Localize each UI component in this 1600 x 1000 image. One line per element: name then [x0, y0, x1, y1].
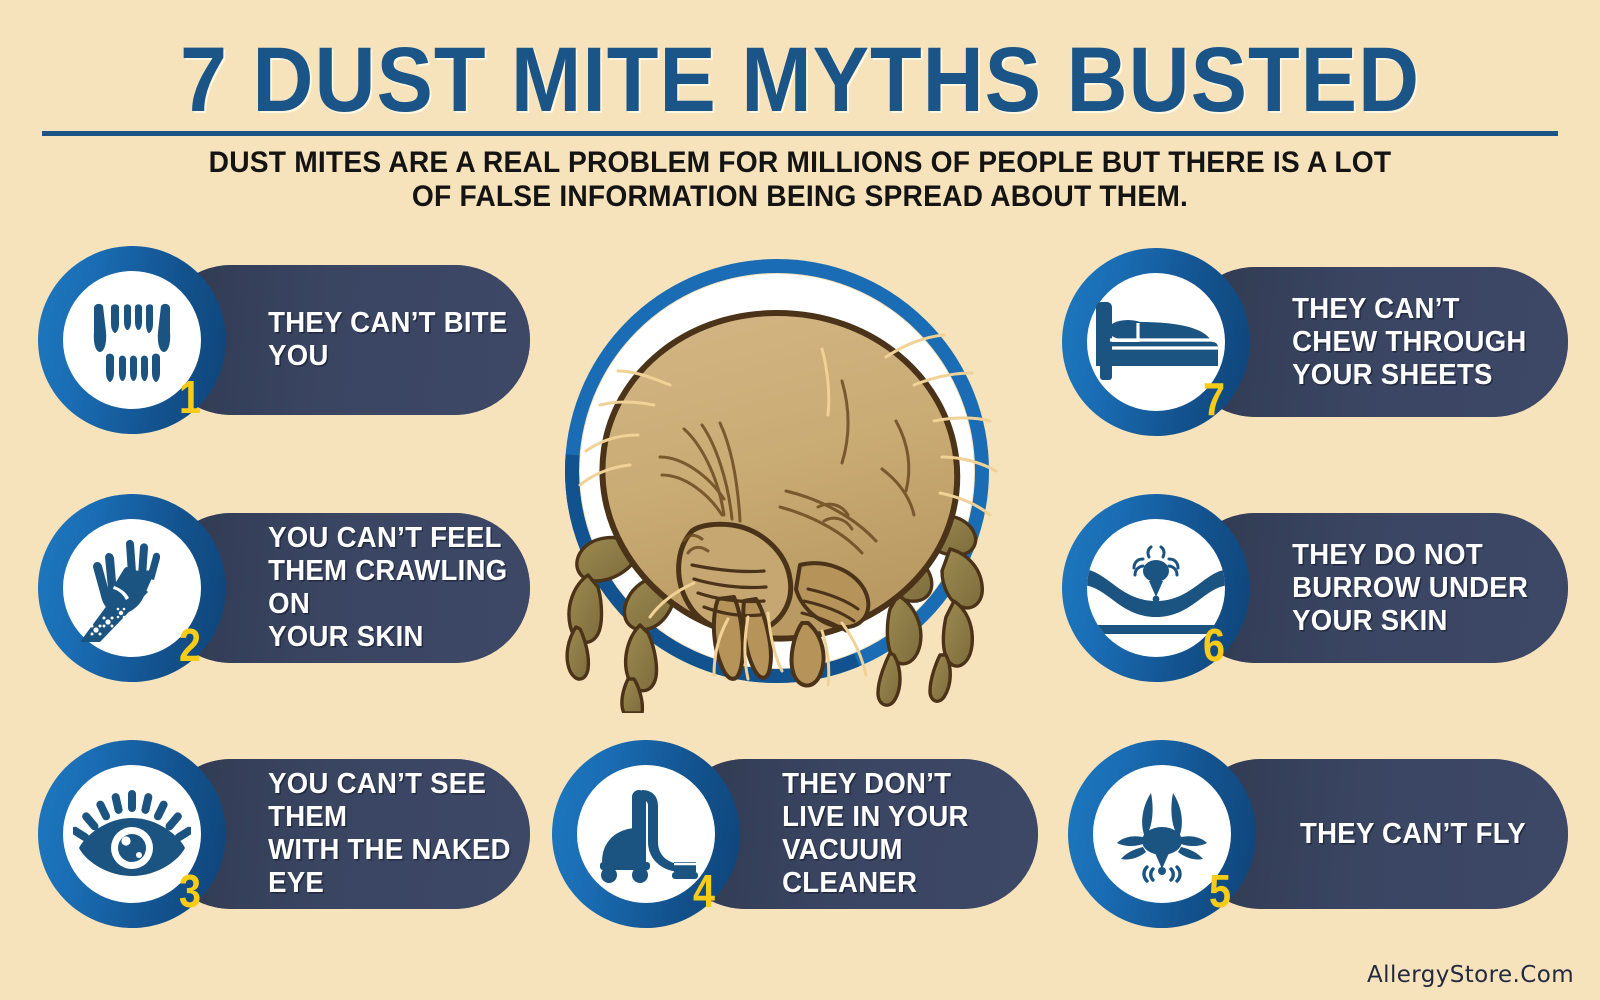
myth-card-4[interactable]: THEY DON’T LIVE IN YOUR VACUUM CLEANER [552, 740, 1038, 928]
title-divider [42, 131, 1558, 136]
myth-card-7-number: 7 [1203, 376, 1225, 422]
myth-card-3-number: 3 [179, 868, 201, 914]
myth-card-4-badge: 4 [552, 740, 740, 928]
myth-card-6-badge: 6 [1062, 494, 1250, 682]
header: 7 DUST MITE MYTHS BUSTED DUST MITES ARE … [0, 0, 1600, 220]
myth-card-1[interactable]: THEY CAN’T BITE YOU [38, 246, 530, 434]
myth-card-5-badge: 5 [1068, 740, 1256, 928]
myth-card-1-number: 1 [179, 374, 201, 420]
myth-card-7[interactable]: THEY CAN’T CHEW THROUGH YOUR SHEETS [1062, 248, 1568, 436]
myth-card-1-badge: 1 [38, 246, 226, 434]
myth-card-6-number: 6 [1203, 622, 1225, 668]
myth-card-2[interactable]: YOU CAN’T FEEL THEM CRAWLING ON YOUR SKI… [38, 494, 530, 682]
myth-card-7-badge: 7 [1062, 248, 1250, 436]
myth-card-3[interactable]: YOU CAN’T SEE THEM WITH THE NAKED EYE [38, 740, 530, 928]
myth-card-5-number: 5 [1209, 868, 1231, 914]
myth-card-6[interactable]: THEY DO NOT BURROW UNDER YOUR SKIN [1062, 494, 1568, 682]
myth-card-5[interactable]: THEY CAN’T FLY [1068, 740, 1568, 928]
page-title: 7 DUST MITE MYTHS BUSTED [64, 32, 1536, 128]
dust-mite-illustration [542, 253, 1012, 713]
myth-card-2-number: 2 [179, 622, 201, 668]
page-subtitle: DUST MITES ARE A REAL PROBLEM FOR MILLIO… [189, 146, 1411, 214]
myth-card-2-badge: 2 [38, 494, 226, 682]
myth-card-4-number: 4 [693, 868, 715, 914]
myth-card-3-badge: 3 [38, 740, 226, 928]
footer-brand: AllergyStore.Com [1367, 962, 1574, 988]
